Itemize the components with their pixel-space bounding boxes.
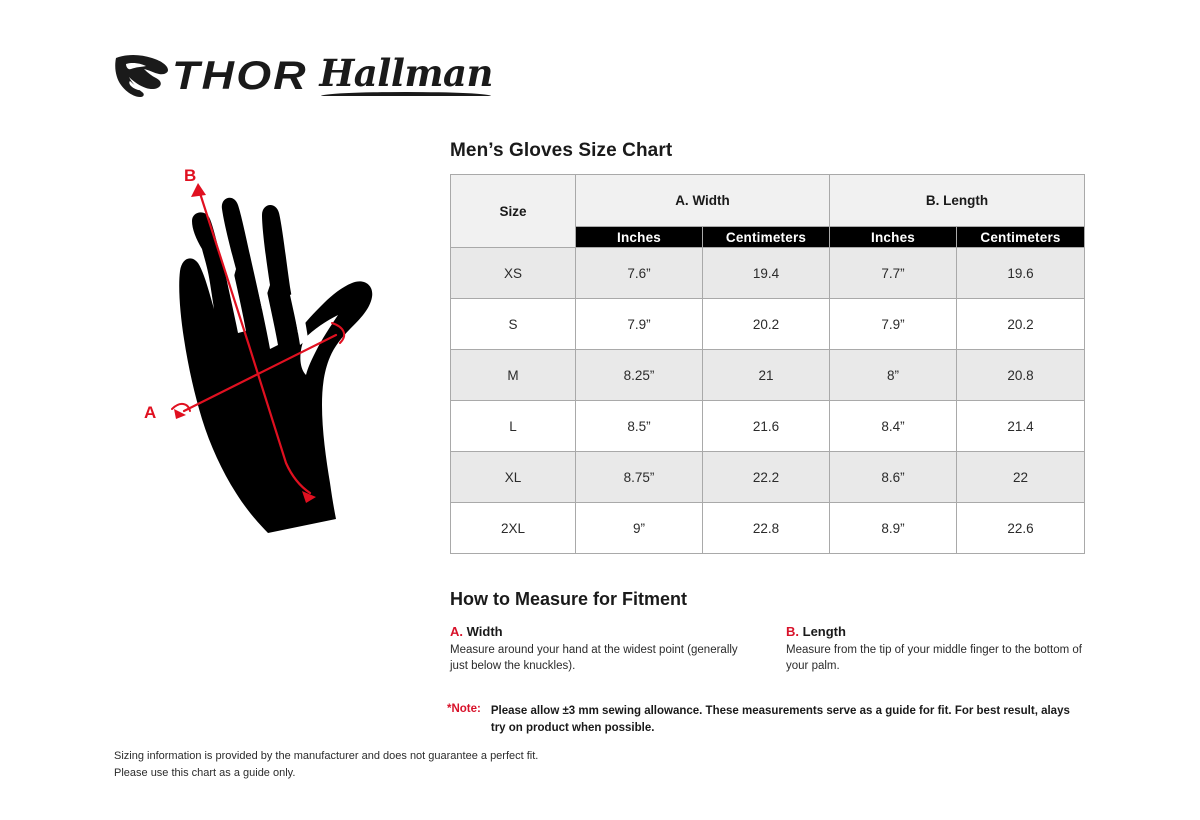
diagram-label-b: B xyxy=(184,166,196,185)
cell-length-centimeters: 20.2 xyxy=(957,299,1085,350)
cell-size: M xyxy=(451,350,576,401)
how-to-measure-title: How to Measure for Fitment xyxy=(450,589,687,610)
cell-width-centimeters: 21.6 xyxy=(703,401,830,452)
table-row: XL8.75”22.28.6”22 xyxy=(451,452,1085,503)
column-header-length-inches: Inches xyxy=(830,227,957,248)
column-header-size: Size xyxy=(451,175,576,248)
cell-width-inches: 8.5” xyxy=(576,401,703,452)
table-row: XS7.6”19.47.7”19.6 xyxy=(451,248,1085,299)
cell-width-inches: 8.25” xyxy=(576,350,703,401)
thor-wordmark: THOR xyxy=(172,56,308,96)
measure-length-text: Measure from the tip of your middle fing… xyxy=(786,643,1091,675)
measure-width-heading: A. Width xyxy=(450,624,755,639)
cell-length-inches: 8.4” xyxy=(830,401,957,452)
hallman-wordmark: Hallman xyxy=(319,51,493,95)
diagram-label-a: A xyxy=(144,403,156,422)
cell-length-inches: 7.7” xyxy=(830,248,957,299)
cell-length-inches: 7.9” xyxy=(830,299,957,350)
table-row: M8.25”218”20.8 xyxy=(451,350,1085,401)
cell-width-inches: 7.6” xyxy=(576,248,703,299)
note-text: Please allow ±3 mm sewing allowance. The… xyxy=(491,703,1087,736)
column-header-width-centimeters: Centimeters xyxy=(703,227,830,248)
note-label: *Note: xyxy=(447,703,481,736)
cell-size: XL xyxy=(451,452,576,503)
hallman-logo: Hallman xyxy=(319,55,493,98)
cell-length-centimeters: 21.4 xyxy=(957,401,1085,452)
column-header-width-inches: Inches xyxy=(576,227,703,248)
cell-width-inches: 8.75” xyxy=(576,452,703,503)
cell-width-centimeters: 21 xyxy=(703,350,830,401)
column-header-length: B. Length xyxy=(830,175,1085,227)
measure-width-block: A. Width Measure around your hand at the… xyxy=(450,624,755,675)
cell-length-centimeters: 20.8 xyxy=(957,350,1085,401)
measure-length-letter: B. xyxy=(786,624,799,639)
cell-size: 2XL xyxy=(451,503,576,554)
table-row: 2XL9”22.88.9”22.6 xyxy=(451,503,1085,554)
size-chart-table-body: XS7.6”19.47.7”19.6S7.9”20.27.9”20.2M8.25… xyxy=(451,248,1085,554)
table-header-group-row: Size A. Width B. Length xyxy=(451,175,1085,227)
measure-arrow-b-head-top xyxy=(191,183,206,197)
thor-helmet-icon xyxy=(114,52,170,100)
cell-length-centimeters: 19.6 xyxy=(957,248,1085,299)
cell-length-inches: 8” xyxy=(830,350,957,401)
footer-disclaimer: Sizing information is provided by the ma… xyxy=(114,748,538,782)
column-header-length-centimeters: Centimeters xyxy=(957,227,1085,248)
cell-width-centimeters: 20.2 xyxy=(703,299,830,350)
brand-logo-bar: THOR Hallman xyxy=(114,52,493,100)
cell-size: S xyxy=(451,299,576,350)
measure-length-block: B. Length Measure from the tip of your m… xyxy=(786,624,1091,675)
table-row: L8.5”21.68.4”21.4 xyxy=(451,401,1085,452)
cell-length-centimeters: 22.6 xyxy=(957,503,1085,554)
size-chart-page: THOR Hallman xyxy=(0,0,1200,820)
measure-width-text: Measure around your hand at the widest p… xyxy=(450,643,755,675)
cell-width-inches: 9” xyxy=(576,503,703,554)
cell-width-centimeters: 22.2 xyxy=(703,452,830,503)
thor-logo: THOR xyxy=(114,52,293,100)
footer-line-1: Sizing information is provided by the ma… xyxy=(114,748,538,765)
cell-length-inches: 8.6” xyxy=(830,452,957,503)
size-chart-table: Size A. Width B. Length Inches Centimete… xyxy=(450,174,1085,554)
measure-width-letter: A. xyxy=(450,624,463,639)
measure-length-label: Length xyxy=(803,624,846,639)
cell-width-centimeters: 19.4 xyxy=(703,248,830,299)
cell-length-inches: 8.9” xyxy=(830,503,957,554)
table-row: S7.9”20.27.9”20.2 xyxy=(451,299,1085,350)
measure-width-label: Width xyxy=(467,624,503,639)
cell-size: XS xyxy=(451,248,576,299)
page-title: Men’s Gloves Size Chart xyxy=(450,140,672,162)
measure-length-heading: B. Length xyxy=(786,624,1091,639)
glove-measurement-diagram: B A xyxy=(118,163,424,553)
cell-length-centimeters: 22 xyxy=(957,452,1085,503)
cell-size: L xyxy=(451,401,576,452)
cell-width-centimeters: 22.8 xyxy=(703,503,830,554)
cell-width-inches: 7.9” xyxy=(576,299,703,350)
note-block: *Note: Please allow ±3 mm sewing allowan… xyxy=(447,703,1087,736)
column-header-width: A. Width xyxy=(576,175,830,227)
footer-line-2: Please use this chart as a guide only. xyxy=(114,765,538,782)
